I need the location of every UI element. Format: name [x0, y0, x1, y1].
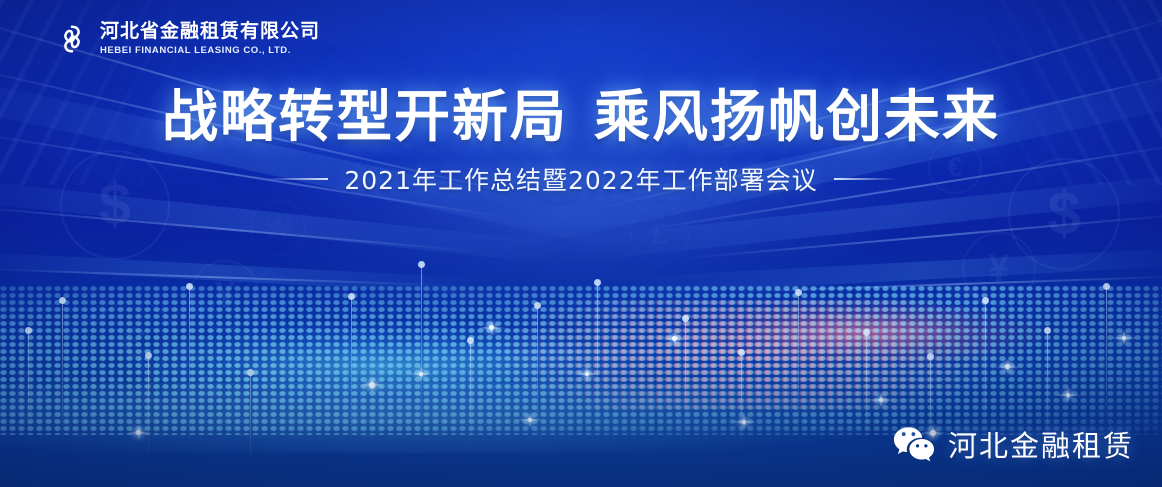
headline-block: 战略转型开新局乘风扬帆创未来 2021年工作总结暨2022年工作部署会议	[0, 88, 1162, 197]
main-title-part-1: 战略转型开新局	[162, 85, 568, 150]
logo-wordmark: 河北省金融租赁有限公司 HEBEI FINANCIAL LEASING CO.,…	[100, 22, 320, 57]
company-name-en: HEBEI FINANCIAL LEASING CO., LTD.	[100, 45, 320, 57]
conference-banner: $¥€$₽$¥€₽$£₩ 河北省金融租赁有限公司 HEBEI FINANCIAL…	[0, 0, 1162, 487]
company-logo: 河北省金融租赁有限公司 HEBEI FINANCIAL LEASING CO.,…	[54, 21, 320, 57]
wechat-badge: 河北金融租赁	[893, 423, 1134, 465]
wechat-icon	[893, 426, 935, 462]
main-title: 战略转型开新局乘风扬帆创未来	[0, 88, 1162, 147]
wechat-account-name: 河北金融租赁	[948, 423, 1134, 465]
main-title-part-2: 乘风扬帆创未来	[594, 85, 1000, 150]
subtitle-row: 2021年工作总结暨2022年工作部署会议	[0, 161, 1162, 197]
vignette-overlay	[0, 0, 1162, 487]
company-name-cn: 河北省金融租赁有限公司	[100, 22, 320, 42]
subtitle-rule-left	[266, 178, 328, 180]
subtitle-text: 2021年工作总结暨2022年工作部署会议	[344, 161, 817, 197]
pinwheel-logo-icon	[54, 21, 90, 57]
subtitle-rule-right	[834, 178, 896, 180]
